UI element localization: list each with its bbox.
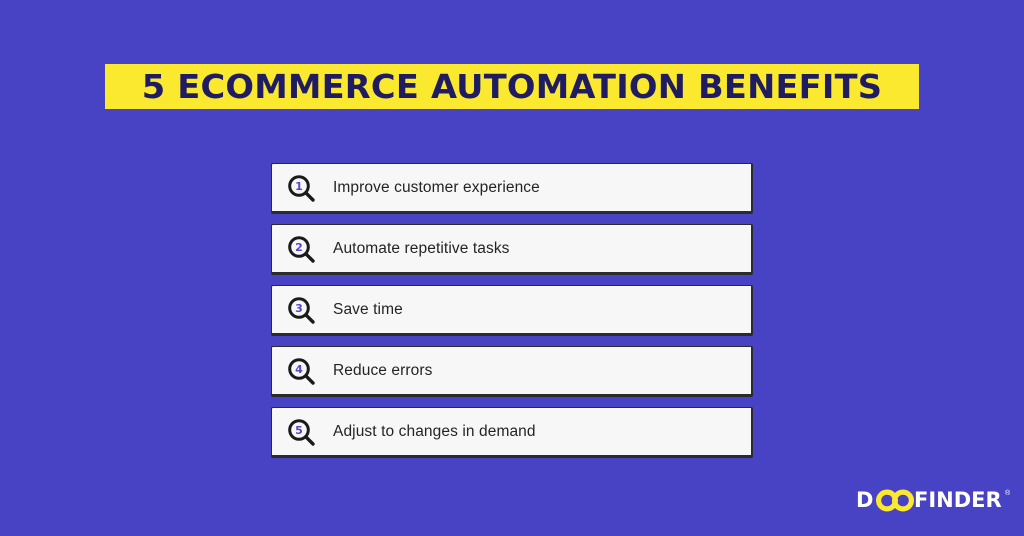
benefit-card-4[interactable]: 4 Reduce errors [271, 346, 753, 397]
benefit-number-3: 3 [295, 302, 303, 315]
brand-logo: D FINDER ® [856, 489, 1010, 513]
benefit-card-5[interactable]: 5 Adjust to changes in demand [271, 407, 753, 458]
benefit-number-4: 4 [295, 363, 303, 376]
title-banner: 5 ECOMMERCE AUTOMATION BENEFITS [105, 64, 919, 109]
page-title: 5 ECOMMERCE AUTOMATION BENEFITS [142, 70, 882, 103]
benefit-number-5: 5 [295, 424, 303, 437]
magnifier-number-icon: 5 [278, 417, 324, 447]
benefit-label-3: Save time [333, 302, 403, 318]
magnifier-number-icon: 1 [278, 173, 324, 203]
benefit-card-2[interactable]: 2 Automate repetitive tasks [271, 224, 753, 275]
doofinder-wordmark: D FINDER [856, 489, 1004, 513]
logo-text-finder: FINDER [914, 489, 1002, 512]
benefit-label-5: Adjust to changes in demand [333, 424, 536, 440]
benefit-card-3[interactable]: 3 Save time [271, 285, 753, 336]
benefit-number-2: 2 [295, 241, 303, 254]
registered-trademark-mark: ® [1005, 490, 1010, 497]
benefits-list: 1 Improve customer experience 2 Automate… [271, 163, 753, 458]
benefit-number-1: 1 [295, 180, 303, 193]
magnifier-number-icon: 2 [278, 234, 324, 264]
magnifier-number-icon: 3 [278, 295, 324, 325]
benefit-label-2: Automate repetitive tasks [333, 241, 510, 257]
magnifier-number-icon: 4 [278, 356, 324, 386]
poster-canvas: 5 ECOMMERCE AUTOMATION BENEFITS 1 Improv… [0, 0, 1024, 536]
benefit-label-1: Improve customer experience [333, 180, 540, 196]
benefit-card-1[interactable]: 1 Improve customer experience [271, 163, 753, 214]
benefit-label-4: Reduce errors [333, 363, 433, 379]
logo-letter-d: D [856, 489, 873, 512]
